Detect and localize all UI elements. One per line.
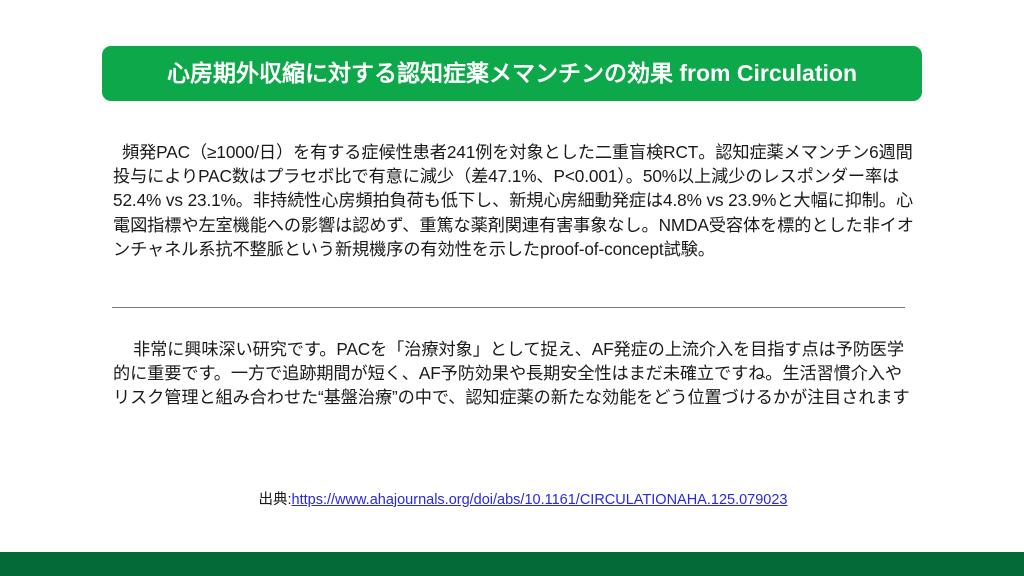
source-label: 出典: [259,492,292,508]
section-divider [112,307,905,308]
source-link[interactable]: https://www.ahajournals.org/doi/abs/10.1… [292,492,788,508]
title-banner: 心房期外収縮に対する認知症薬メマンチンの効果 from Circulation [102,46,922,101]
slide-canvas: 心房期外収縮に対する認知症薬メマンチンの効果 from Circulation … [0,0,1024,576]
source-line: 出典:https://www.ahajournals.org/doi/abs/1… [0,490,1024,510]
footer-bar [0,552,1024,576]
comment-section: 非常に興味深い研究です。PACを「治療対象」として捉え、AF発症の上流介入を目指… [113,337,913,410]
page-title: 心房期外収縮に対する認知症薬メマンチンの効果 from Circulation [167,62,857,85]
comment-paragraph: 非常に興味深い研究です。PACを「治療対象」として捉え、AF発症の上流介入を目指… [113,337,918,410]
summary-paragraph: 頻発PAC（≥1000/日）を有する症候性患者241例を対象とした二重盲検RCT… [113,140,918,261]
summary-section: 頻発PAC（≥1000/日）を有する症候性患者241例を対象とした二重盲検RCT… [113,140,913,261]
